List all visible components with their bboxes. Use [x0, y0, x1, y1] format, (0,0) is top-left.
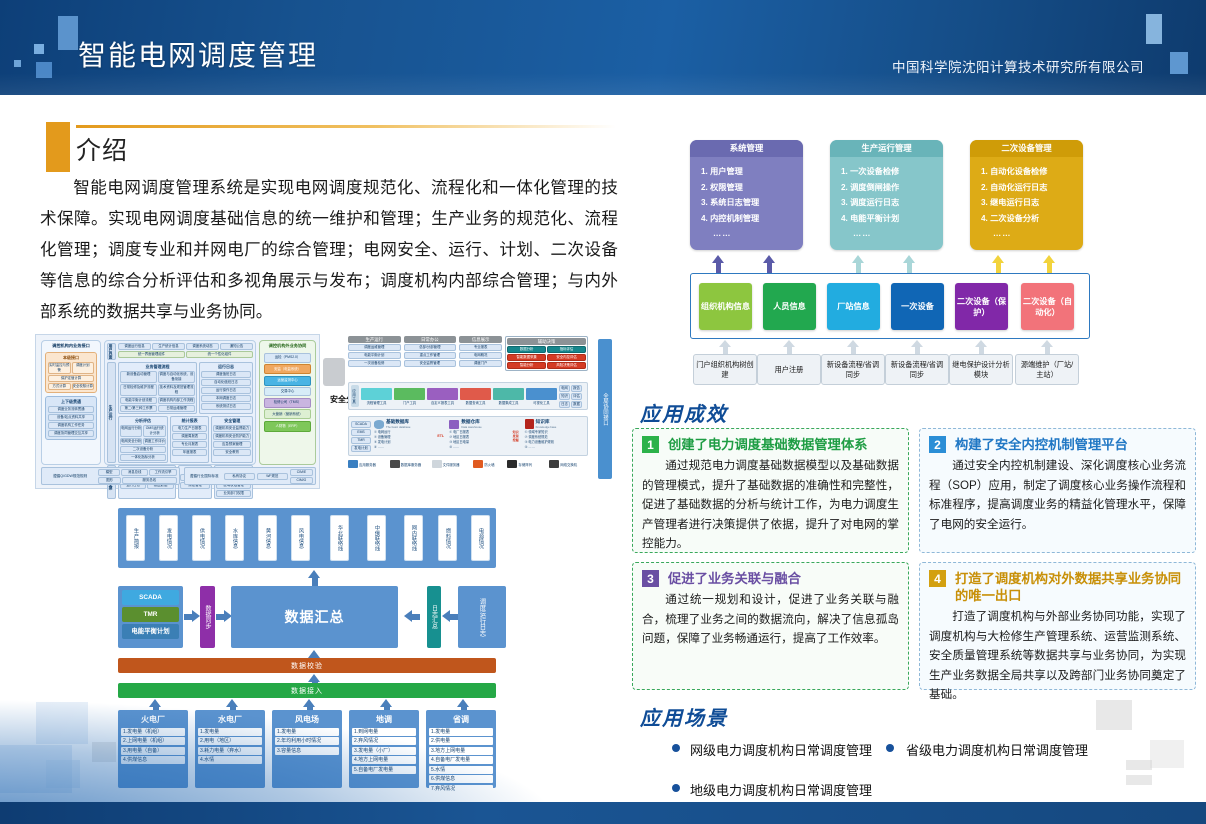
plant-item: 4.供煤信息 [121, 756, 185, 764]
platform-group: 辅助决策 数据分析指标评估 智能数据采集安全内控评估 智能分析风险决策评估 [505, 336, 588, 371]
plant-item: 1.发电量 [275, 728, 339, 736]
plant-item: 2.用电（地区） [198, 737, 262, 745]
arch-cell: 电力生产日报表 [172, 425, 207, 432]
effect-title: 构建了安全内控机制管理平台 [955, 436, 1128, 453]
hardware-label: 防火墙 [484, 462, 494, 467]
platform-tag: 报告 [571, 385, 582, 392]
arch-cell: 系统测试日志 [201, 403, 251, 410]
arch-cell: 通知公告 [220, 343, 253, 350]
arrow-up-icon [992, 255, 1004, 273]
platform-cell: 总部/分部管理 [404, 344, 457, 351]
tool-item: 门户工具 [394, 388, 425, 405]
arch-cell: 第二/第三种工作票 [120, 405, 157, 412]
arch-cell: 二次设备分析 [120, 446, 166, 453]
platform-hardware-row: 应用服务器 数据库服务器 文件服务器 防火墙 存储阵列 网络交换机 [348, 460, 588, 468]
platform-global-interface-bar: 全局协同接口 [598, 339, 612, 479]
arch-cell: 调度机构安全监督能力 [213, 425, 251, 432]
arch-group-title: 业务管理流程 [120, 364, 195, 370]
plant-item: 1.到网电量 [352, 728, 416, 736]
arrow-up-icon [712, 255, 724, 273]
poster-page: 智能电网调度管理 中国科学院沈阳计算技术研究所有限公司 介绍 智能电网调度管理系… [0, 0, 1206, 824]
plant-item: 3.地方上网电量 [429, 747, 493, 755]
arch-cell: 模型 [98, 469, 120, 476]
module-card-production-management: 生产运行管理 1. 一次设备检修 2. 调度倒闸操作 3. 调度运行日志 4. … [830, 140, 943, 250]
arch-cell: 业务部门权限 [216, 490, 251, 497]
hardware-label: 文件服务器 [443, 462, 460, 467]
flow-sync-bar: 数据同步 [200, 586, 215, 648]
system-module-diagram: 系统管理 1. 用户管理 2. 权限管理 3. 系统日志管理 4. 内控机制管理… [690, 140, 1090, 385]
effect-title: 创建了电力调度基础数据管理体系 [668, 436, 867, 453]
platform-group: 日常办公 总部/分部管理 重点工作管理 安全监督管理 [404, 336, 457, 371]
platform-src-tag: SCADA [351, 421, 371, 428]
flow-top-item: 生产简报 [126, 515, 145, 561]
arch-cell: 电网运行分析 [120, 425, 142, 437]
arch-cell: 运行操作日志 [201, 387, 251, 394]
deco-square [1126, 760, 1152, 770]
deco-square [1126, 775, 1152, 785]
effect-number-badge: 1 [642, 436, 659, 453]
knowledge-arrow-label: 知识发现挖掘 [513, 419, 522, 453]
arch-cell: 安全校核计算 [72, 383, 95, 390]
plant-item: 2.上网电量（机组） [121, 737, 185, 745]
arrow-right-icon [216, 610, 232, 623]
arrow-up-icon [763, 255, 775, 273]
plant-item: 2.年均利用小时情况 [275, 737, 339, 745]
arch-left-title: 调控机构内业务接口 [42, 341, 100, 349]
hardware-label: 存储阵列 [518, 462, 532, 467]
intro-rule [76, 125, 616, 128]
footer-band [0, 802, 1206, 824]
db-block: 知识库 Knowledge base ① 领域专家知识 ② 调度系统规范 ③ 电… [525, 419, 585, 453]
firewall-icon [473, 460, 483, 468]
flow-middle-row: SCADA TMR 电能平衡计划 数据同步 数据汇总 日志汇总 调度运行日志 [118, 586, 538, 648]
platform-db-band: SCADA EMS TMR 发电计划 基础数据库 The basic datab… [348, 416, 588, 456]
module-item: 1. 自动化设备检修 [981, 164, 1083, 180]
info-entity-bar: 组织机构信息 人员信息 厂站信息 一次设备 二次设备（保护） 二次设备（自动化） [690, 273, 1090, 339]
plant-item: 6.供煤信息 [429, 775, 493, 783]
header-deco-square-6 [1170, 52, 1188, 74]
header-deco-square-2 [34, 44, 44, 54]
tool-label: 数据查询工具 [460, 400, 491, 405]
tool-label: 门户工具 [394, 400, 425, 405]
plant-item: 3.用电量（自备） [121, 747, 185, 755]
platform-cell: 安全监督管理 [404, 360, 457, 367]
effect-title: 打造了调度机构对外数据共享业务协同的唯一出口 [955, 570, 1186, 604]
flow-top-item: 燃料情况 [438, 515, 457, 561]
arch-left-panel: 调控机构内业务接口 本级接口 实时监控与预警调度计划 保护定值计算 方式计算安全… [41, 340, 101, 465]
platform-cell: 智能数据采集 [507, 354, 546, 361]
arch-ext-cell: 检修公司（TMS） [264, 398, 311, 408]
tool-item: 流程管理工具 [361, 388, 392, 405]
flow-top-item: 水库信息 [225, 515, 244, 561]
deco-square [46, 760, 80, 788]
hardware-label: 数据库服务器 [401, 462, 421, 467]
effect-header: 2 构建了安全内控机制管理平台 [929, 436, 1186, 453]
tool-item: 自定义报表工具 [427, 388, 458, 405]
module-item: 4. 电能平衡计划 [841, 211, 943, 227]
arch-cell: 图形 [98, 477, 120, 484]
flow-top-item: 华北联络线 [330, 515, 349, 561]
platform-group-title: 日常办公 [404, 336, 457, 343]
arrow-up-icon [308, 570, 321, 586]
leaf-box: 继电保护设计分析模块 [949, 354, 1013, 385]
scene-item: 网级电力调度机构日常调度管理 [690, 740, 872, 759]
leaf-box: 源端维护（厂站/主站） [1015, 354, 1079, 385]
entity-chip-secondary-automation: 二次设备（自动化） [1021, 283, 1074, 330]
module-item: 1. 用户管理 [701, 164, 803, 180]
flow-top-item: 网内联络线 [404, 515, 423, 561]
plant-item: 1.发电量 [198, 728, 262, 736]
intro-accent-bar [46, 122, 70, 172]
arch-ext-cell: 安监（电监系统） [264, 364, 311, 374]
arch-cell: 生产统计信息 [152, 343, 185, 350]
platform-cell: 安全内控评估 [547, 354, 586, 361]
module-item: 2. 调度倒闸操作 [841, 180, 943, 196]
arch-group-title: 分析评估 [120, 418, 166, 424]
db-item: ④ …… [525, 445, 585, 450]
tool-item: 数据集成工具 [493, 388, 524, 405]
plant-item: 1.发电量 [429, 728, 493, 736]
arrow-up-icon [903, 255, 915, 273]
db-server-icon [390, 460, 400, 468]
page-header: 智能电网调度管理 中国科学院沈阳计算技术研究所有限公司 [0, 0, 1206, 95]
book-icon [525, 419, 534, 429]
tool-item: 数据查询工具 [460, 388, 491, 405]
arch-cell: 设备/站点资料共享 [48, 414, 94, 421]
source-item: SCADA [122, 590, 179, 605]
platform-tag: 日志 [559, 401, 570, 408]
arch-group-title: 统计报表 [172, 418, 207, 424]
module-item: …… [841, 226, 943, 242]
storage-icon [507, 460, 517, 468]
arch-ext-cell: 人财物（ERP） [264, 421, 311, 432]
platform-src-tag: 发电计划 [351, 445, 371, 452]
platform-src-tag: EMS [351, 429, 371, 436]
arch-user-interface-rail: 用户界面 [107, 343, 116, 360]
page-title: 智能电网调度管理 [78, 34, 318, 74]
arch-cell: 年度报表 [172, 449, 207, 456]
leaf-box: 用户注册 [757, 354, 821, 385]
scene-item: 省级电力调度机构日常调度管理 [906, 740, 1088, 759]
arch-vertical-link-title: 上下级贯通 [48, 399, 94, 405]
flow-top-item: 发电情况 [159, 515, 178, 561]
plant-title: 风电场 [275, 713, 339, 726]
effect-body: 通过统一规划和设计，促进了业务关联与融合，梳理了业务之间的数据流向，解决了信息孤… [642, 590, 899, 649]
arch-cell: 调度业务流转贯通 [48, 406, 94, 413]
warehouse-icon [449, 420, 459, 429]
module-item: 1. 一次设备检修 [841, 164, 943, 180]
module-title: 二次设备管理 [970, 140, 1083, 157]
arch-cell: 安全教育 [213, 449, 251, 456]
arch-standard-label: 遵循行业国际标准 [187, 473, 222, 480]
module-item: …… [701, 226, 803, 242]
flow-top-item: 黄河信息 [258, 515, 277, 561]
arch-cell: 调度协同管理交互共享 [48, 430, 94, 437]
source-item: 电能平衡计划 [122, 624, 179, 639]
effect-number-badge: 2 [929, 436, 946, 453]
plant-item: 4.自备电厂发电量 [429, 756, 493, 764]
header-deco-square-3 [36, 62, 52, 78]
plant-item: 3.容量信息 [275, 747, 339, 755]
flow-top-item: 供电情况 [192, 515, 211, 561]
arch-standards-footer: 遵循Q/GDW规范规则 模型 消息总线 工作流引擎 图形 服务总线 [41, 467, 316, 485]
tool-icon [361, 388, 392, 400]
arch-ext-cell: 交易中心 [264, 387, 311, 396]
deco-square [1150, 740, 1184, 768]
platform-cell: 电网概况 [459, 352, 502, 359]
flow-input-band: 数据接入 [118, 683, 496, 698]
arch-cell: CIM/E [290, 469, 313, 476]
platform-tools-band: 应用工具 流程管理工具 门户工具 自定义报表工具 数据查询工具 数据集成工具 可… [348, 382, 588, 410]
platform-group-title: 生产运行 [348, 336, 401, 343]
platform-src-tag: TMR [351, 437, 371, 444]
arch-ext-cell: 运检（PMS2.0） [264, 353, 311, 363]
platform-diagram: 生产运行 调度运维管理 电能平衡计划 一次设备检修 日常办公 总部/分部管理 重… [330, 336, 612, 488]
organization-name: 中国科学院沈阳计算技术研究所有限公司 [892, 56, 1144, 76]
effects-section-title: 应用成效 [640, 398, 728, 427]
arch-cell: 调度机构安全防护能力 [213, 433, 251, 440]
effect-card-2: 2 构建了安全内控机制管理平台 通过安全内控机制建设、深化调度核心业务流程（SO… [919, 428, 1196, 553]
header-deco-square-5 [1146, 14, 1162, 44]
module-item: 3. 系统日志管理 [701, 195, 803, 211]
arch-right-title: 调控机构外业务协同 [260, 341, 315, 349]
module-item: 3. 继电运行日志 [981, 195, 1083, 211]
header-deco-square-4 [14, 60, 21, 67]
arrow-up-icon [852, 255, 864, 273]
leaf-box: 新设备流程/省调同步 [885, 354, 949, 385]
tool-label: 数据集成工具 [493, 400, 524, 405]
arch-cell: 一体化指标分析 [120, 454, 166, 461]
arch-cell: 专业月报表 [172, 441, 207, 448]
tool-icon [427, 388, 458, 400]
tool-icon [460, 388, 491, 400]
module-item: 4. 内控机制管理 [701, 211, 803, 227]
arch-production-rail: 生产运行 [107, 362, 116, 463]
platform-tag: 评估 [571, 393, 582, 400]
arch-cell: 保护定值计算 [48, 375, 94, 382]
arrow-right-icon [184, 610, 200, 623]
db-item: ④ …… [374, 445, 434, 450]
flow-top-item: 风电信息 [291, 515, 310, 561]
tool-icon [394, 388, 425, 400]
platform-tag: 数据 [571, 401, 582, 408]
arch-cell: 调度运行信息 [118, 343, 151, 350]
db-title-en: Data warehouse [461, 425, 481, 429]
architecture-diagram: 调控机构内业务接口 本级接口 实时监控与预警调度计划 保护定值计算 方式计算安全… [35, 334, 320, 489]
arch-cell: 新设备启动管理 [120, 371, 157, 383]
effect-card-4: 4 打造了调度机构对外数据共享业务协同的唯一出口 打造了调度机构与外部业务协同功… [919, 562, 1196, 690]
platform-tag: 知识 [559, 393, 570, 400]
platform-cell: 数据分析 [507, 346, 546, 353]
arch-cell: 实时监控与预警 [48, 362, 71, 374]
etl-label: ETL [437, 419, 446, 453]
flow-top-item: 中俄联络线 [367, 515, 386, 561]
platform-tag: 电网 [559, 385, 570, 392]
platform-cell: 调度门户 [459, 360, 502, 367]
plant-item: 3.发电量（小厂） [352, 747, 416, 755]
effect-body: 打造了调度机构与外部业务协同功能，实现了调度机构与大检修生产管理系统、运营监测系… [929, 607, 1186, 705]
switch-icon [549, 460, 559, 468]
arch-mid-panel: 用户界面 调度运行信息 生产统计信息 调度系统动态 通知公告 统一界面管理组件 … [104, 340, 256, 465]
entity-chip-station: 厂站信息 [827, 283, 880, 330]
effect-title: 促进了业务关联与融合 [668, 570, 801, 587]
bullet-icon [672, 744, 680, 752]
platform-cell: 风险决策评估 [547, 362, 586, 369]
arch-cell: OMS运行统计分析 [143, 425, 165, 437]
arch-cell: 消息总线 [121, 469, 148, 476]
server-icon [348, 460, 358, 468]
module-item: 4. 二次设备分析 [981, 211, 1083, 227]
arch-cell: 统一界面管理组件 [118, 351, 185, 358]
effect-header: 3 促进了业务关联与融合 [642, 570, 899, 587]
plant-item: 2.供电量 [429, 737, 493, 745]
plant-title: 水电厂 [198, 713, 262, 726]
source-item: TMR [122, 607, 179, 622]
plant-item: 4.水情 [198, 756, 262, 764]
effect-number-badge: 3 [642, 570, 659, 587]
plant-title: 地调 [352, 713, 416, 726]
arch-cell: 调度工作评价 [143, 438, 165, 445]
arch-cell: 技术资料及规范管理流程 [158, 384, 195, 396]
plant-item: 4.地方上网电量 [352, 756, 416, 764]
module-title: 系统管理 [690, 140, 803, 157]
db-title-en: The basic database [386, 425, 410, 429]
hardware-label: 应用服务器 [359, 462, 376, 467]
arch-ext-cell: 运营监测中心 [264, 376, 311, 386]
arch-cell: 本网调度日志 [201, 395, 251, 402]
entity-chip-primary-equipment: 一次设备 [891, 283, 944, 330]
arch-cell: 私有协议 [224, 473, 255, 480]
bullet-icon [886, 744, 894, 752]
platform-cell: 一次设备检修 [348, 360, 401, 367]
plant-card-thermal: 火电厂 1.发电量（机组） 2.上网电量（机组） 3.用电量（自备） 4.供煤信… [118, 710, 188, 788]
arch-group-title: 安全管理 [213, 418, 251, 424]
deco-square [36, 702, 88, 744]
plant-item: 3.耗力电量（弃水） [198, 747, 262, 755]
arrow-left-icon [404, 610, 420, 623]
plant-item: 5.自备电厂发电量 [352, 766, 416, 774]
flow-top-item: 电源情况 [471, 515, 490, 561]
arch-cell: 调度计划 [72, 362, 95, 374]
plant-card-wind: 风电场 1.发电量 2.年均利用小时情况 3.容量信息 [272, 710, 342, 788]
arch-cell: 统一个性化组件 [186, 351, 253, 358]
arch-right-panel: 调控机构外业务协同 运检（PMS2.0） 安监（电监系统） 运营监测中心 交易中… [259, 340, 316, 465]
plant-title: 省调 [429, 713, 493, 726]
plant-item: 2.弃风情况 [352, 737, 416, 745]
database-icon [374, 420, 384, 429]
platform-group-title: 信息展示 [459, 336, 502, 343]
plant-item: 1.发电量（机组） [121, 728, 185, 736]
file-server-icon [432, 460, 442, 468]
module-item: 3. 调度运行日志 [841, 195, 943, 211]
arrow-up-icon [1043, 255, 1055, 273]
deco-square [1096, 700, 1132, 730]
tool-item: 可视化工具 [526, 388, 557, 405]
plant-title: 火电厂 [121, 713, 185, 726]
hardware-label: 网络交换机 [560, 462, 577, 467]
module-card-secondary-equipment: 二次设备管理 1. 自动化设备检修 2. 自动化运行日志 3. 继电运行日志 4… [970, 140, 1083, 250]
arch-cell: 应急预案管理 [213, 441, 251, 448]
data-flow-diagram: 生产简报 发电情况 供电情况 水库信息 黄河信息 风电信息 华北联络线 中俄联络… [118, 508, 618, 798]
intro-title: 介绍 [76, 131, 128, 167]
deco-square [92, 742, 116, 762]
arch-group-title: 运行日志 [201, 364, 251, 370]
plant-card-local-dispatch: 地调 1.到网电量 2.弃风情况 3.发电量（小厂） 4.地方上网电量 5.自备… [349, 710, 419, 788]
effect-card-3: 3 促进了业务关联与融合 通过统一规划和设计，促进了业务关联与融合，梳理了业务之… [632, 562, 909, 690]
leaf-box: 新设备流程/省调同步 [821, 354, 885, 385]
module-item: 2. 自动化运行日志 [981, 180, 1083, 196]
db-item: ④ …… [449, 445, 509, 450]
leaf-box: 门户组织机构树创建 [693, 354, 757, 385]
platform-cell: 重点工作管理 [404, 352, 457, 359]
arch-cell: 调度值班日志 [201, 371, 251, 378]
arch-cell: 调度与自动化系统、设备衔接 [158, 371, 195, 383]
db-block: 数据仓库 Data warehouse ① 电厂日报表 ② 地区日报表 ③ 地区… [449, 419, 509, 453]
platform-cell: 电能平衡计划 [348, 352, 401, 359]
effect-body: 通过安全内控机制建设、深化调度核心业务流程（SOP）应用，制定了调度核心业务操作… [929, 456, 1186, 534]
arch-cell: 调度周报表 [172, 433, 207, 440]
arch-local-interface-title: 本级接口 [48, 355, 94, 361]
arch-cell: WF规范 [257, 473, 288, 480]
platform-tools-label: 应用工具 [351, 385, 359, 407]
flow-source-box: SCADA TMR 电能平衡计划 [118, 586, 183, 648]
module-item: …… [981, 226, 1083, 242]
arch-cell: 调度机构工作任务 [48, 422, 94, 429]
effect-header: 4 打造了调度机构对外数据共享业务协同的唯一出口 [929, 570, 1186, 604]
module-item: 2. 权限管理 [701, 180, 803, 196]
plant-card-provincial-dispatch: 省调 1.发电量 2.供电量 3.地方上网电量 4.自备电厂发电量 5.水情 6… [426, 710, 496, 788]
arch-cell: 方式计算 [48, 383, 71, 390]
arch-cell: 日常运维管理 [158, 405, 195, 412]
flow-top-bar: 生产简报 发电情况 供电情况 水库信息 黄河信息 风电信息 华北联络线 中俄联络… [118, 508, 496, 568]
flow-core-box: 数据汇总 [231, 586, 398, 648]
platform-group: 信息展示 专业报表 电网概况 调度门户 [459, 336, 502, 371]
arch-cell: 调度机构内部工作流程 [158, 397, 195, 404]
module-card-system-management: 系统管理 1. 用户管理 2. 权限管理 3. 系统日志管理 4. 内控机制管理… [690, 140, 803, 250]
platform-cell: 调度运维管理 [348, 344, 401, 351]
plant-item: 5.水情 [429, 766, 493, 774]
arch-standard-label: 遵循Q/GDW规范规则 [44, 473, 96, 480]
platform-group-title: 辅助决策 [507, 338, 586, 345]
entity-chip-secondary-protection: 二次设备（保护） [955, 283, 1008, 330]
entity-chip-org: 组织机构信息 [699, 283, 752, 330]
arch-cell: 调度系统动态 [186, 343, 219, 350]
scenes-section-title: 应用场景 [640, 702, 728, 731]
arch-ext-cell: 大营销（营销系统） [264, 409, 311, 419]
header-deco-square-1 [58, 16, 78, 50]
tool-label: 自定义报表工具 [427, 400, 458, 405]
module-title: 生产运行管理 [830, 140, 943, 157]
effect-header: 1 创建了电力调度基础数据管理体系 [642, 436, 899, 453]
tool-label: 流程管理工具 [361, 400, 392, 405]
effect-body: 通过规范电力调度基础数据模型以及基础数据的管理模式，提升了基础数据的准确性和完整… [642, 456, 899, 554]
scene-item: 地级电力调度机构日常调度管理 [690, 780, 872, 799]
tool-icon [526, 388, 557, 400]
platform-cell: 智能分析 [507, 362, 546, 369]
intro-paragraph: 智能电网调度管理系统是实现电网调度规范化、流程化和一体化管理的技术保障。实现电网… [40, 172, 618, 327]
tool-label: 可视化工具 [526, 400, 557, 405]
arch-cell: CIM/G [290, 477, 313, 484]
platform-cell: 指标评估 [547, 346, 586, 353]
arch-cell: 自动化值班日志 [201, 379, 251, 386]
tool-icon [493, 388, 524, 400]
db-block: 基础数据库 The basic database ① 电网运行 ② 设备管理 ③… [374, 419, 434, 453]
arch-cell: 电网安全分析 [120, 438, 142, 445]
arch-local-interface-group: 本级接口 实时监控与预警调度计划 保护定值计算 方式计算安全校核计算 [45, 352, 97, 393]
platform-group: 生产运行 调度运维管理 电能平衡计划 一次设备检修 [348, 336, 401, 371]
effect-card-1: 1 创建了电力调度基础数据管理体系 通过规范电力调度基础数据模型以及基础数据的管… [632, 428, 909, 553]
flow-check-band: 数据校验 [118, 658, 496, 673]
